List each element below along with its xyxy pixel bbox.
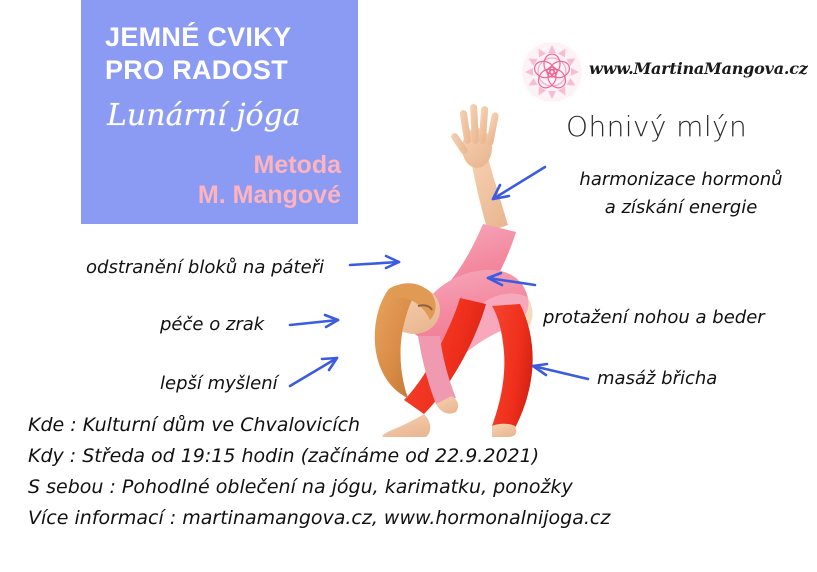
annotation-legs-and-loins: protažení nohou a beder	[543, 304, 813, 332]
brand-panel: JEMNÉ CVIKY PRO RADOST Lunární jóga Meto…	[81, 0, 358, 224]
event-info-block: Kde : Kulturní dům ve Chvalovicích Kdy :…	[28, 410, 668, 534]
annotation-eyes: péče o zrak	[160, 311, 310, 339]
brand-method-byline: Metoda M. Mangové	[101, 150, 341, 210]
brand-title: JEMNÉ CVIKY PRO RADOST	[105, 21, 345, 87]
annotation-spine: odstranění bloků na páteři	[86, 254, 346, 282]
logo-group: www.MartinaMangova.cz	[521, 41, 811, 105]
info-line-when: Kdy : Středa od 19:15 hodin (začínáme od…	[28, 441, 668, 472]
info-line-more: Více informací : martinamangova.cz, www.…	[28, 503, 668, 534]
info-line-bring: S sebou : Pohodlné oblečení na jógu, kar…	[28, 472, 668, 503]
brand-subtitle: Lunární jóga	[107, 98, 347, 134]
website-url-text[interactable]: www.MartinaMangova.cz	[589, 59, 808, 78]
annotation-belly-massage: masáž břicha	[597, 365, 817, 393]
annotation-hormones: harmonizace hormonů a získání energie	[556, 166, 806, 222]
info-line-where: Kde : Kulturní dům ve Chvalovicích	[28, 410, 668, 441]
poster-canvas: JEMNÉ CVIKY PRO RADOST Lunární jóga Meto…	[0, 0, 817, 572]
figure-hand	[450, 104, 499, 168]
yoga-pose-figure	[352, 92, 562, 437]
pose-title: Ohnivý mlýn	[566, 110, 747, 143]
mandala-flower-icon	[521, 41, 583, 103]
annotation-thinking: lepší myšlení	[160, 370, 310, 398]
